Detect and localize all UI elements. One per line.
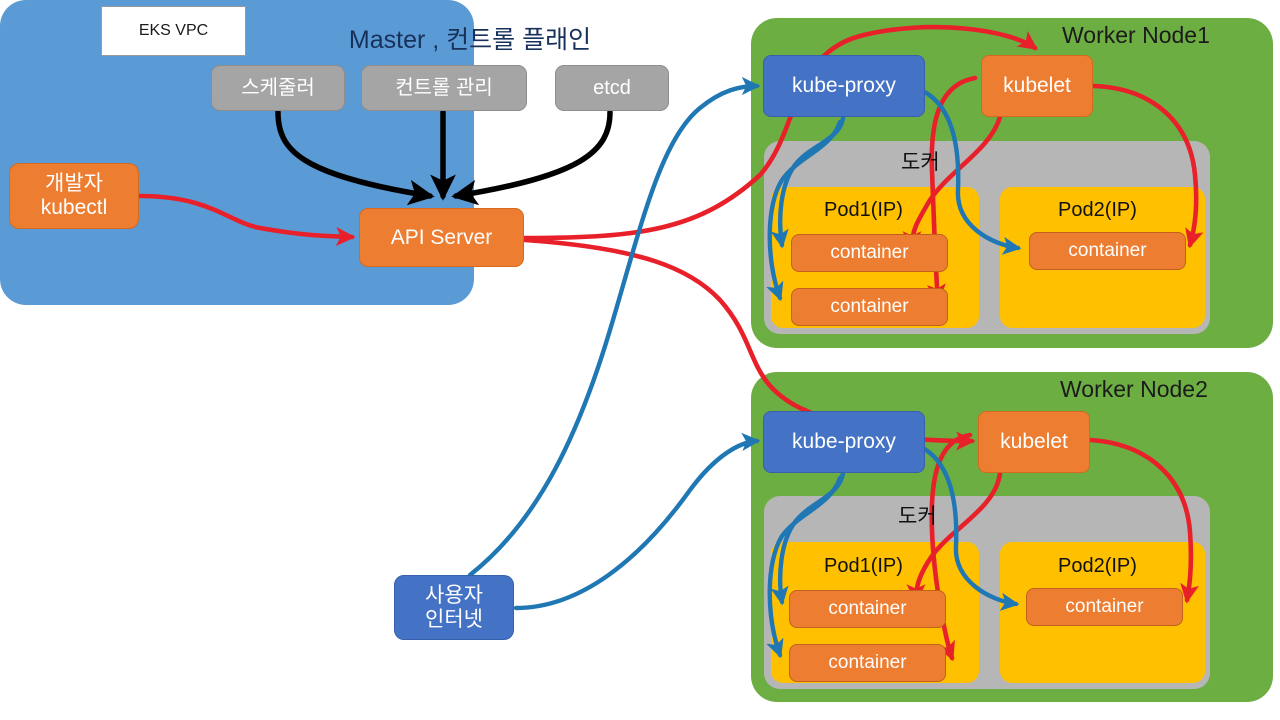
user-internet-box[interactable]: 사용자 인터넷 [394, 575, 514, 640]
worker-node-1-pod2-container-1[interactable]: container [1029, 232, 1186, 270]
wire-user-to-node2-kube-proxy [516, 441, 757, 608]
worker-node-2-pod1-container-1[interactable]: container [789, 590, 946, 628]
worker-node-2-kubelet[interactable]: kubelet [978, 411, 1090, 473]
worker-node-1-pod1-label: Pod1(IP) [824, 199, 903, 222]
worker-node-2-docker-label: 도커 [898, 500, 937, 530]
api-server-box[interactable]: API Server [359, 208, 524, 267]
worker-node-1-pod1-container-2[interactable]: container [791, 288, 948, 326]
worker-node-1-kubelet[interactable]: kubelet [981, 55, 1093, 117]
worker-node-1-pod1-container-1[interactable]: container [791, 234, 948, 272]
worker-node-1-kube-proxy[interactable]: kube-proxy [763, 55, 925, 117]
worker-node-1-title: Worker Node1 [1062, 22, 1210, 49]
developer-kubectl-box[interactable]: 개발자 kubectl [9, 163, 139, 229]
wire-user-to-node1-kube-proxy [470, 86, 757, 575]
developer-line-2: kubectl [41, 196, 108, 220]
worker-node-2-pod2-label: Pod2(IP) [1058, 555, 1137, 578]
control-plane-scheduler[interactable]: 스케줄러 [211, 65, 345, 111]
diagram-canvas: EKS VPC Master , 컨트롤 플래인 스케줄러 컨트롤 관리 etc… [0, 0, 1280, 720]
worker-node-2-pod2-container-1[interactable]: container [1026, 588, 1183, 626]
worker-node-2-pod1-container-2[interactable]: container [789, 644, 946, 682]
user-line-1: 사용자 [425, 584, 483, 608]
developer-line-1: 개발자 [45, 172, 103, 196]
control-plane-controller-manager[interactable]: 컨트롤 관리 [361, 65, 527, 111]
control-plane-etcd[interactable]: etcd [555, 65, 669, 111]
worker-node-2-title: Worker Node2 [1060, 376, 1208, 403]
wire-etcd-to-api [456, 112, 610, 196]
eks-vpc-label: EKS VPC [101, 6, 246, 56]
worker-node-2-pod1-label: Pod1(IP) [824, 555, 903, 578]
master-panel-title: Master , 컨트롤 플래인 [233, 20, 707, 56]
worker-node-2-kube-proxy[interactable]: kube-proxy [763, 411, 925, 473]
user-line-2: 인터넷 [425, 608, 483, 632]
worker-node-1-pod2-label: Pod2(IP) [1058, 199, 1137, 222]
worker-node-1-docker-label: 도커 [901, 146, 940, 176]
